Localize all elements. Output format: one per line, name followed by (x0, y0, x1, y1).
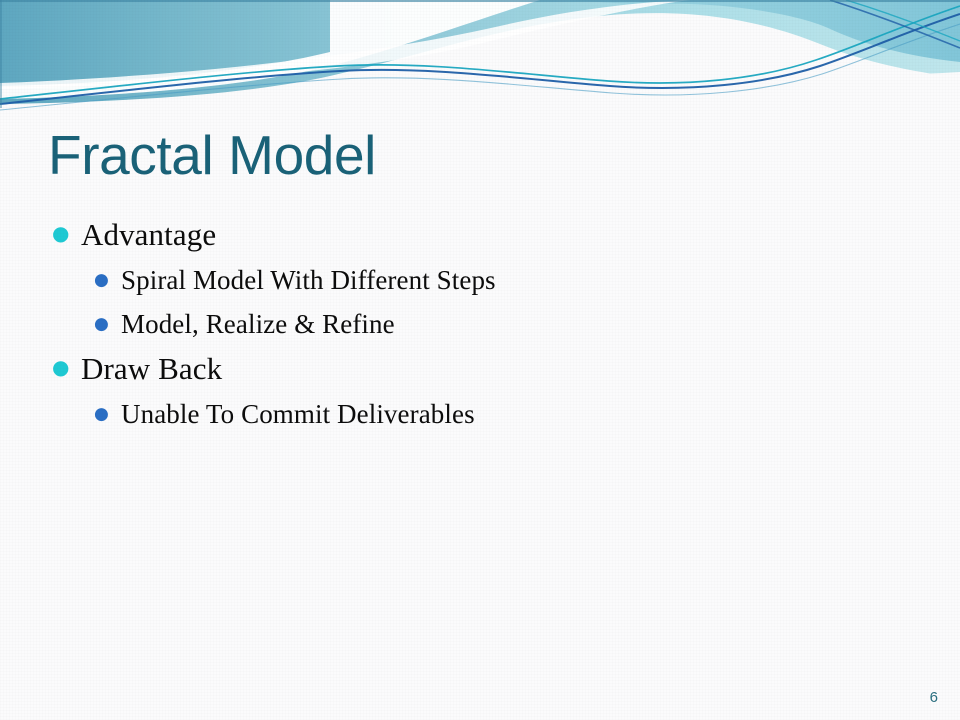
bullet-item-draw-back: ● Draw Back (52, 346, 912, 392)
bullet-dot-icon: ● (94, 392, 121, 436)
presentation-slide: Fractal Model ● Advantage ● Spiral Model… (0, 0, 960, 720)
bullet-dot-icon: ● (94, 302, 121, 346)
bullet-item-advantage: ● Advantage (52, 212, 912, 258)
bullet-label: Advantage (81, 212, 216, 258)
wave-graphic (0, 0, 960, 112)
bullet-item-spiral-model: ● Spiral Model With Different Steps (94, 258, 912, 302)
slide-title: Fractal Model (48, 122, 898, 188)
slide-body-content: ● Advantage ● Spiral Model With Differen… (52, 212, 912, 436)
left-hairline (0, 0, 2, 108)
bullet-label: Draw Back (81, 346, 222, 392)
bullet-label: Unable To Commit Deliverables (121, 392, 475, 436)
bullet-dot-icon: ● (52, 344, 81, 390)
bullet-dot-icon: ● (94, 258, 121, 302)
bullet-item-unable-to-commit: ● Unable To Commit Deliverables (94, 392, 912, 436)
bullet-item-model-realize-refine: ● Model, Realize & Refine (94, 302, 912, 346)
bullet-label: Spiral Model With Different Steps (121, 258, 496, 302)
bullet-dot-icon: ● (52, 210, 81, 256)
slide-number: 6 (930, 689, 938, 707)
header-wave-banner-decoration (0, 0, 960, 112)
bullet-label: Model, Realize & Refine (121, 302, 395, 346)
top-hairline (0, 0, 960, 2)
